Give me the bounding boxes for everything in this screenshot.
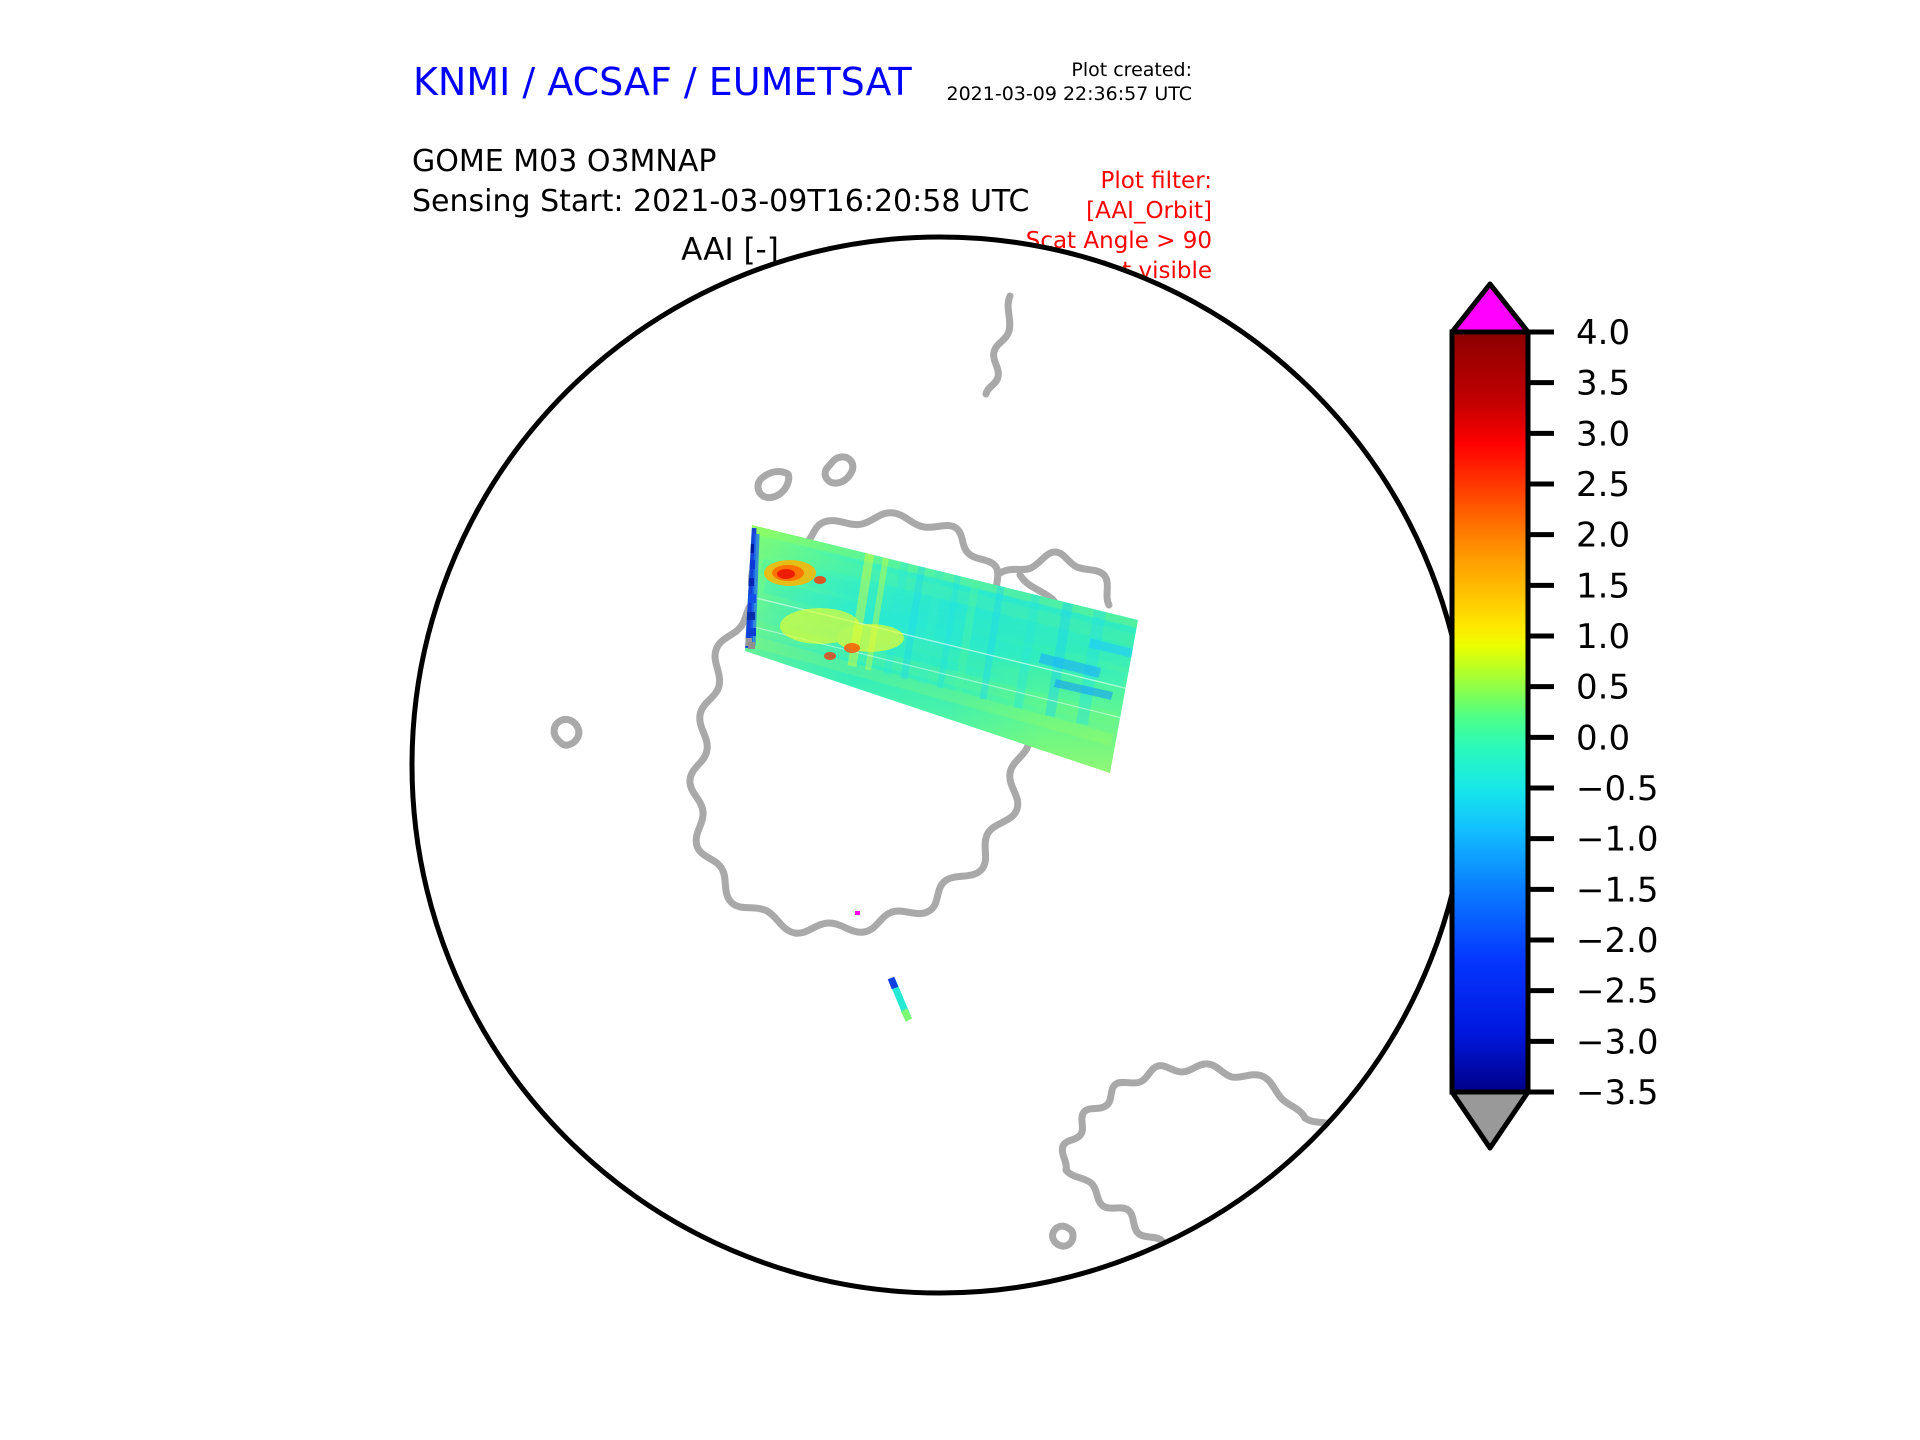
colorbar-over-arrow	[1452, 284, 1528, 332]
cbar-label-2: 3.0	[1576, 414, 1630, 454]
cbar-label-14: −3.0	[1576, 1022, 1659, 1062]
colorbar-gradient	[1452, 332, 1528, 1092]
cbar-label-6: 1.0	[1576, 617, 1630, 657]
colorbar-panel: 4.0 3.5 3.0 2.5 2.0 1.5 1.0 0.5 0.0 −0.5…	[1430, 270, 1810, 1330]
cbar-label-11: −1.5	[1576, 870, 1659, 910]
cbar-label-7: 0.5	[1576, 668, 1630, 708]
map-panel	[400, 228, 1480, 1308]
polar-map	[400, 228, 1480, 1308]
cbar-label-1: 3.5	[1576, 364, 1630, 404]
plot-created-time: 2021-03-09 22:36:57 UTC	[872, 82, 1192, 106]
colorbar: 4.0 3.5 3.0 2.5 2.0 1.5 1.0 0.5 0.0 −0.5…	[1430, 270, 1810, 1330]
cbar-label-10: −1.0	[1576, 820, 1659, 860]
magenta-outlier-pixel	[855, 911, 860, 915]
cbar-label-12: −2.0	[1576, 921, 1659, 961]
colorbar-ticks	[1528, 332, 1554, 1092]
filter-line-2: [AAI_Orbit]	[872, 197, 1212, 227]
organisation-title: KNMI / ACSAF / EUMETSAT	[413, 60, 912, 104]
plot-created-block: Plot created: 2021-03-09 22:36:57 UTC	[872, 58, 1192, 107]
cbar-label-8: 0.0	[1576, 718, 1630, 758]
plot-created-label: Plot created:	[872, 58, 1192, 82]
cbar-label-3: 2.5	[1576, 465, 1630, 505]
colorbar-tick-labels: 4.0 3.5 3.0 2.5 2.0 1.5 1.0 0.5 0.0 −0.5…	[1576, 313, 1659, 1113]
cbar-label-5: 1.5	[1576, 566, 1630, 606]
globe-disc	[412, 237, 1468, 1293]
cbar-label-15: −3.5	[1576, 1073, 1659, 1113]
cbar-label-4: 2.0	[1576, 516, 1630, 556]
filter-line-1: Plot filter:	[872, 167, 1212, 197]
plot-page: KNMI / ACSAF / EUMETSAT Plot created: 20…	[0, 0, 1920, 1440]
cbar-label-9: −0.5	[1576, 769, 1659, 809]
cbar-label-0: 4.0	[1576, 313, 1630, 353]
colorbar-under-arrow	[1452, 1092, 1528, 1148]
cbar-label-13: −2.5	[1576, 972, 1659, 1012]
